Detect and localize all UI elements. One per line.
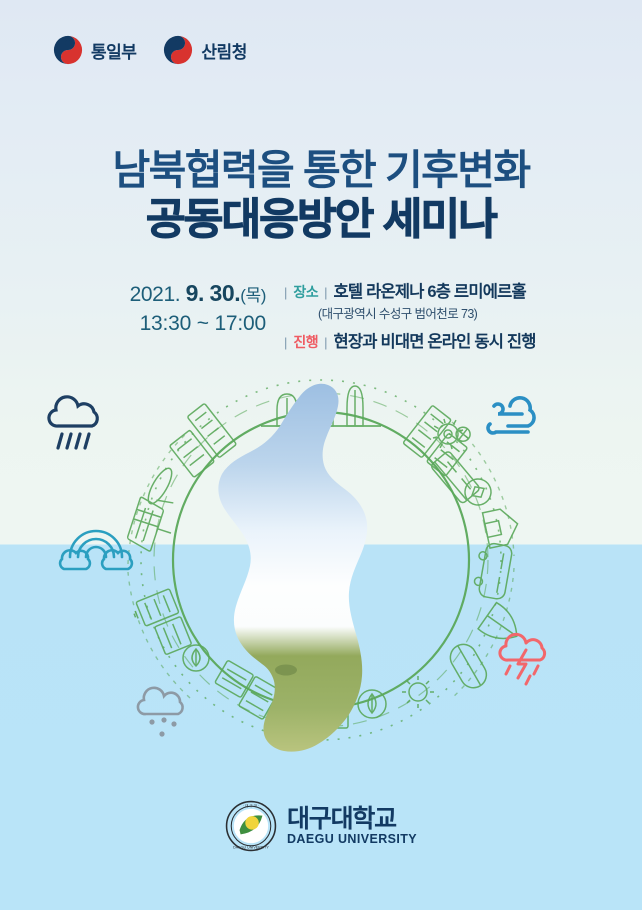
venue-row: | 장소 | 호텔 라온제나 6층 르미에르홀	[284, 278, 534, 302]
event-datetime: 2021. 9. 30.(목) 13:30 ~ 17:00	[108, 278, 280, 340]
ministry-unification: 통일부	[52, 34, 136, 66]
title-line-1: 남북협력을 통한 기후변화	[0, 148, 642, 194]
poster-title: 남북협력을 통한 기후변화 공동대응방안 세미나	[0, 148, 642, 244]
seminar-poster: 통일부 산림청 남북협력을 통한 기후변화 공동대응방안 세미나 2021. 9…	[0, 0, 642, 910]
ministry-logo-row: 통일부 산림청	[52, 34, 247, 66]
event-info-block: 2021. 9. 30.(목) 13:30 ~ 17:00 | 장소 | 호텔 …	[0, 278, 642, 352]
divider-bar-left: |	[284, 335, 287, 350]
divider-bar-right: |	[324, 285, 327, 300]
ministry-forest-service: 산림청	[162, 34, 246, 66]
university-name-en: DAEGU UNIVERSITY	[287, 833, 417, 846]
university-name-kr: 대구대학교	[287, 806, 417, 832]
thunderstorm-icon	[500, 634, 545, 684]
event-time: 13:30 ~ 17:00	[108, 309, 266, 339]
format-tag: 진행	[293, 332, 318, 352]
jeju-island	[275, 665, 297, 676]
rain-cloud-icon	[49, 397, 97, 448]
svg-text:· 대 구 대 ·: · 대 구 대 ·	[243, 803, 259, 808]
university-logo: · 대 구 대 · DAEGU UNIVERSITY 대구대학교 DAEGU U…	[0, 800, 642, 852]
taegeuk-icon	[52, 34, 84, 66]
format-value: 현장과 비대면 온라인 동시 진행	[334, 328, 536, 352]
format-row: | 진행 | 현장과 비대면 온라인 동시 진행	[284, 328, 534, 352]
ministry-name-label: 산림청	[201, 38, 246, 63]
divider-bar-right: |	[324, 335, 327, 350]
venue-address: (대구광역시 수성구 범어천로 73)	[318, 303, 534, 322]
daegu-university-seal-icon: · 대 구 대 · DAEGU UNIVERSITY	[225, 800, 277, 852]
ministry-name-label: 통일부	[91, 38, 136, 63]
date-year: 2021.	[130, 283, 181, 306]
date-month: 9.	[186, 280, 204, 306]
venue-tag: 장소	[293, 282, 318, 302]
wind-cloud-icon	[488, 398, 534, 433]
taegeuk-icon	[162, 34, 194, 66]
snow-cloud-icon	[138, 688, 183, 737]
svg-text:DAEGU UNIVERSITY: DAEGU UNIVERSITY	[233, 845, 269, 849]
divider-bar-left: |	[284, 285, 287, 300]
title-line-2: 공동대응방안 세미나	[0, 196, 642, 244]
date-day: 30.	[209, 280, 240, 306]
date-weekday: (목)	[240, 286, 266, 305]
event-date: 2021. 9. 30.(목)	[108, 278, 266, 309]
central-illustration	[0, 368, 642, 768]
event-details: | 장소 | 호텔 라온제나 6층 르미에르홀 (대구광역시 수성구 범어천로 …	[280, 278, 534, 352]
university-name-block: 대구대학교 DAEGU UNIVERSITY	[287, 806, 417, 845]
venue-value: 호텔 라온제나 6층 르미에르홀	[334, 278, 526, 302]
rainbow-cloud-icon	[60, 531, 132, 569]
